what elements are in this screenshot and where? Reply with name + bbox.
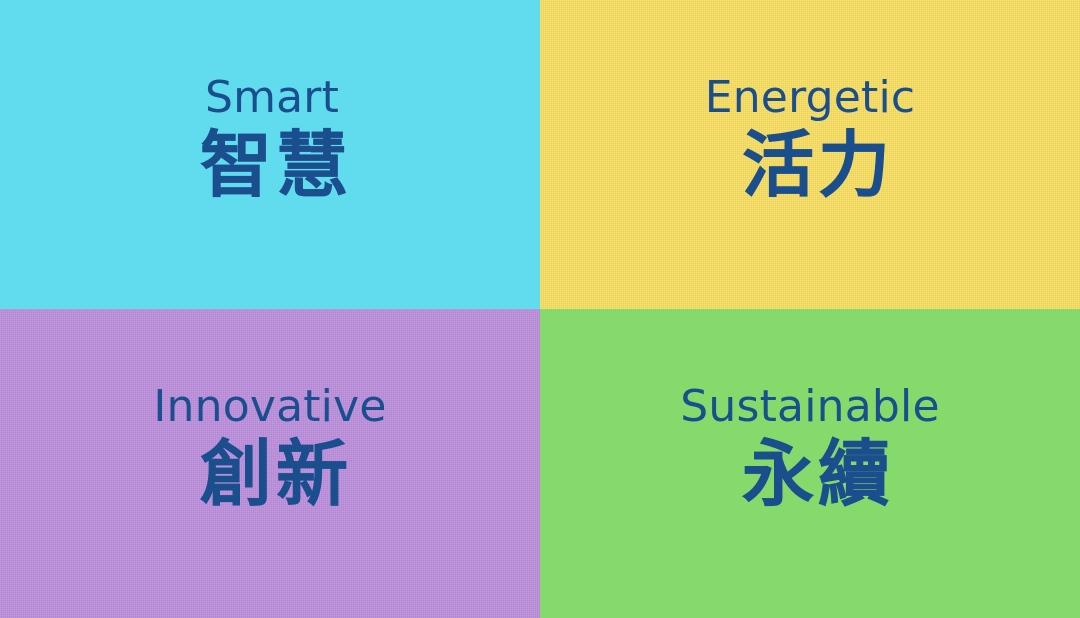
value-text-stack: Smart 智慧 <box>194 73 346 207</box>
value-label-english-sustainable: Sustainable <box>680 382 939 431</box>
brand-values-canvas: Smart 智慧 Energetic 活力 Innovative 創新 Sust… <box>0 0 1080 618</box>
value-label-english-innovative: Innovative <box>153 382 386 431</box>
value-label-chinese-sustainable: 永續 <box>742 432 894 517</box>
value-text-stack: Energetic 活力 <box>705 73 916 207</box>
value-text-stack: Sustainable 永續 <box>680 382 939 516</box>
value-panel-grid: Smart 智慧 Energetic 活力 Innovative 創新 Sust… <box>0 0 1080 618</box>
value-panel-energetic[interactable]: Energetic 活力 <box>540 0 1080 309</box>
value-label-english-energetic: Energetic <box>705 73 916 122</box>
value-label-english-smart: Smart <box>205 73 339 122</box>
value-text-stack: Innovative 創新 <box>153 382 386 516</box>
value-label-chinese-smart: 智慧 <box>200 123 352 208</box>
value-panel-sustainable[interactable]: Sustainable 永續 <box>540 309 1080 618</box>
value-panel-smart[interactable]: Smart 智慧 <box>0 0 540 309</box>
value-panel-innovative[interactable]: Innovative 創新 <box>0 309 540 618</box>
value-label-chinese-energetic: 活力 <box>742 123 894 208</box>
value-label-chinese-innovative: 創新 <box>200 432 352 517</box>
